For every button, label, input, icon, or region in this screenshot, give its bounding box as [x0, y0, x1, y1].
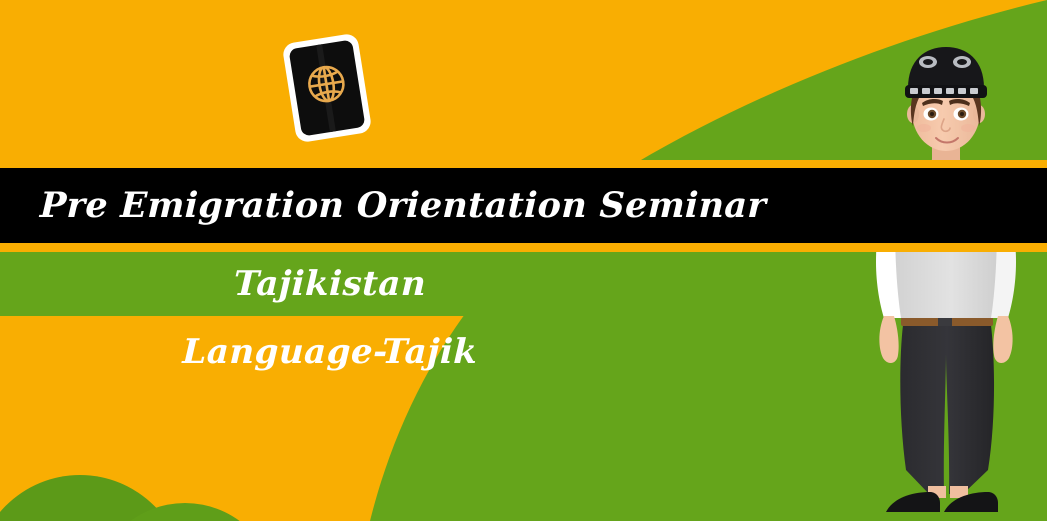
language-name: Language-Tajik	[0, 322, 661, 382]
seminar-title: Pre Emigration Orientation Seminar	[39, 168, 768, 243]
passport-icon	[283, 32, 371, 144]
band-bottom-rule	[0, 243, 1047, 252]
right-pupil	[960, 112, 964, 116]
poster-canvas: Pre Emigration Orientation Seminar Tajik…	[0, 0, 1047, 521]
left-pupil	[930, 112, 934, 116]
left-hand	[879, 316, 898, 363]
right-hand	[993, 316, 1012, 363]
right-cheek	[961, 124, 975, 132]
left-cheek	[917, 124, 931, 132]
band-top-rule	[0, 160, 1047, 168]
country-name: Tajikistan	[0, 252, 661, 316]
title-band: Pre Emigration Orientation Seminar	[0, 160, 1047, 252]
